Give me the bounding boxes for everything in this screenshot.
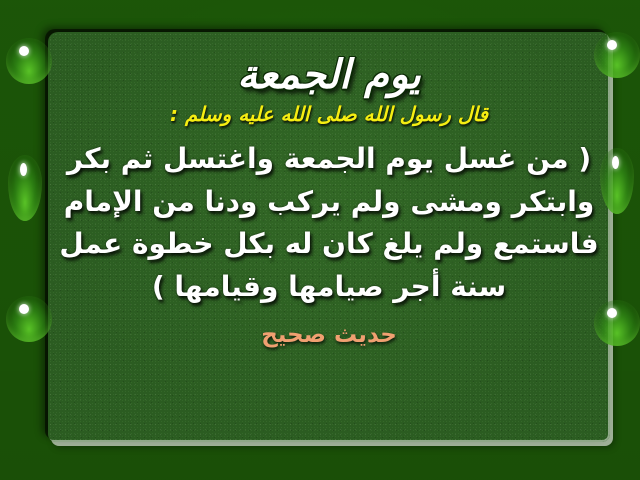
hadith-body: ( من غسل يوم الجمعة واغتسل ثم بكر وابتكر… xyxy=(48,138,610,308)
card-title: يوم الجمعة xyxy=(237,54,420,96)
hadith-card: يوم الجمعة قال رسول الله صلى الله عليه و… xyxy=(0,0,640,480)
bubble-left-top-icon xyxy=(6,38,52,84)
hadith-grading: حديث صحيح xyxy=(261,322,397,348)
teardrop-left-middle-icon xyxy=(8,155,42,221)
hadith-line: وابتكر ومشى ولم يركب ودنا من الإمام xyxy=(48,181,610,224)
hadith-line: سنة أجر صيامها وقيامها ) xyxy=(48,266,610,309)
hadith-line: ( من غسل يوم الجمعة واغتسل ثم بكر xyxy=(48,138,610,181)
content-panel: يوم الجمعة قال رسول الله صلى الله عليه و… xyxy=(48,32,610,442)
bubble-left-bottom-icon xyxy=(6,296,52,342)
card-subtitle: قال رسول الله صلى الله عليه وسلم : xyxy=(170,102,488,126)
hadith-line: فاستمع ولم يلغ كان له بكل خطوة عمل xyxy=(48,223,610,266)
